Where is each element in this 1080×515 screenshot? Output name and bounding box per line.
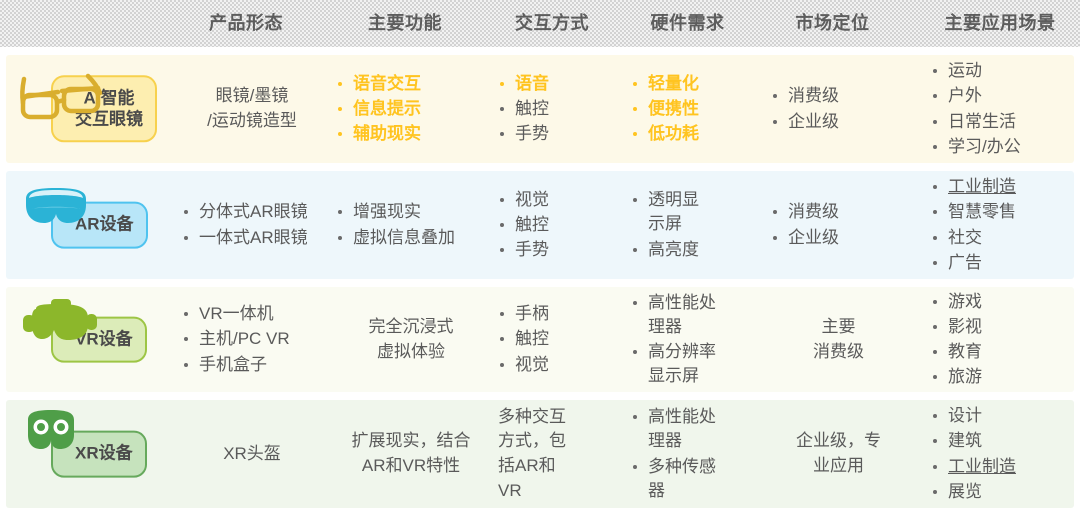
vr-interaction-list: 手柄 触控 视觉 (498, 301, 618, 377)
list-item: 高亮度 (631, 238, 756, 262)
column-header-interaction: 交互方式 (492, 0, 612, 47)
vr-function-text: 完全沉浸式 虚拟体验 (369, 315, 454, 364)
xr-goggles-icon (18, 408, 110, 469)
table-header-row: 产品形态 主要功能 交互方式 硬件需求 市场定位 主要应用场景 (0, 0, 1080, 47)
ar-form-list: 分体式AR眼镜 一体式AR眼镜 (182, 199, 322, 250)
column-header-market: 市场定位 (765, 0, 900, 47)
list-item: 多种传感 器 (631, 455, 756, 503)
column-header-hardware: 硬件需求 (625, 0, 750, 47)
list-item: 手势 (498, 238, 618, 262)
cell-vr-interaction: 手柄 触控 视觉 (498, 287, 618, 392)
list-item: 虚拟信息叠加 (336, 226, 486, 250)
list-item: 触控 (498, 213, 618, 237)
list-item: 智慧零售 (931, 200, 1080, 224)
device-label-cell-ai: AI智能 交互眼镜 (10, 55, 180, 163)
list-item: 语音交互 (336, 72, 486, 96)
list-item: 触控 (498, 97, 618, 121)
cell-xr-product-form: XR头盔 (182, 400, 322, 508)
list-item: 语音 (498, 72, 618, 96)
table-row-ai-glasses: AI智能 交互眼镜 眼镜/墨镜 /运动镜造型 语音交互 信息提示 辅助现实 语音… (6, 55, 1074, 163)
list-item: 户外 (931, 84, 1080, 108)
list-item: 企业级 (771, 226, 906, 250)
list-item: 分体式AR眼镜 (182, 200, 322, 224)
list-item: 触控 (498, 327, 618, 351)
ar-hardware-list: 透明显 示屏 高亮度 (631, 187, 756, 262)
ai-interaction-list: 语音 触控 手势 (498, 71, 618, 147)
ai-function-list: 语音交互 信息提示 辅助现实 (336, 71, 486, 147)
cell-vr-product-form: VR一体机 主机/PC VR 手机盒子 (182, 287, 322, 392)
column-header-product-form: 产品形态 (176, 0, 316, 47)
table-row-xr-device: XR设备 XR头盔 扩展现实，结合 AR和VR特性 多种交互 方式，包 括AR和… (6, 400, 1074, 508)
list-item: 运动 (931, 59, 1080, 83)
ai-hardware-list: 轻量化 便携性 低功耗 (631, 71, 756, 147)
vr-hardware-list: 高性能处 理器 高分辨率 显示屏 (631, 290, 756, 390)
list-item: 旅游 (931, 365, 1080, 389)
ar-interaction-list: 视觉 触控 手势 (498, 187, 618, 263)
list-item: 设计 (931, 404, 1080, 428)
device-label-cell-xr: XR设备 (10, 400, 180, 508)
cell-ar-hardware: 透明显 示屏 高亮度 (631, 171, 756, 279)
cell-ai-main-function: 语音交互 信息提示 辅助现实 (336, 55, 486, 163)
list-item: VR一体机 (182, 302, 322, 326)
ar-function-list: 增强现实 虚拟信息叠加 (336, 199, 486, 250)
ai-product-form-text: 眼镜/墨镜 /运动镜造型 (207, 84, 297, 133)
list-item: 视觉 (498, 188, 618, 212)
list-item: 游戏 (931, 290, 1080, 314)
list-item: 展览 (931, 480, 1080, 504)
vr-market-text: 主要 消费级 (813, 315, 864, 364)
cell-vr-main-function: 完全沉浸式 虚拟体验 (336, 287, 486, 392)
cell-ai-interaction: 语音 触控 手势 (498, 55, 618, 163)
list-item: 学习/办公 (931, 135, 1080, 159)
list-item: 工业制造 (931, 175, 1080, 199)
list-item: 一体式AR眼镜 (182, 226, 322, 250)
vr-scenario-list: 游戏 影视 教育 旅游 (931, 289, 1080, 391)
cell-ai-product-form: 眼镜/墨镜 /运动镜造型 (182, 55, 322, 163)
ar-visor-icon (18, 185, 110, 242)
list-item: 工业制造 (931, 455, 1080, 479)
cell-xr-interaction: 多种交互 方式，包 括AR和 VR (498, 400, 618, 508)
device-label-cell-vr: VR设备 (10, 287, 180, 392)
list-item: 广告 (931, 251, 1080, 275)
cell-vr-hardware: 高性能处 理器 高分辨率 显示屏 (631, 287, 756, 392)
list-item: 辅助现实 (336, 122, 486, 146)
column-header-main-function: 主要功能 (330, 0, 480, 47)
list-item: 便携性 (631, 97, 756, 121)
cell-ai-hardware: 轻量化 便携性 低功耗 (631, 55, 756, 163)
list-item: 社交 (931, 226, 1080, 250)
cell-ar-main-function: 增强现实 虚拟信息叠加 (336, 171, 486, 279)
ar-market-list: 消费级 企业级 (771, 199, 906, 250)
xr-product-form-text: XR头盔 (223, 442, 281, 467)
xr-scenario-list: 设计 建筑 工业制造 展览 (931, 403, 1080, 505)
cell-xr-hardware: 高性能处 理器 多种传感 器 (631, 400, 756, 508)
vr-form-list: VR一体机 主机/PC VR 手机盒子 (182, 301, 322, 377)
xr-hardware-list: 高性能处 理器 多种传感 器 (631, 404, 756, 504)
cell-vr-market: 主要 消费级 (771, 287, 906, 392)
xr-market-text: 企业级，专 业应用 (796, 429, 881, 478)
xr-function-text: 扩展现实，结合 AR和VR特性 (352, 429, 471, 478)
ai-market-list: 消费级 企业级 (771, 83, 906, 134)
list-item: 高分辨率 显示屏 (631, 340, 756, 388)
list-item: 影视 (931, 315, 1080, 339)
list-item: 企业级 (771, 110, 906, 134)
list-item: 手柄 (498, 302, 618, 326)
device-label-cell-ar: AR设备 (10, 171, 180, 279)
table-row-ar-device: AR设备 分体式AR眼镜 一体式AR眼镜 增强现实 虚拟信息叠加 视觉 触控 手… (6, 171, 1074, 279)
cell-ai-scenarios: 运动 户外 日常生活 学习/办公 (931, 55, 1080, 163)
list-item: 低功耗 (631, 122, 756, 146)
list-item: 日常生活 (931, 110, 1080, 134)
list-item: 消费级 (771, 84, 906, 108)
cell-ar-interaction: 视觉 触控 手势 (498, 171, 618, 279)
list-item: 信息提示 (336, 97, 486, 121)
list-item: 透明显 示屏 (631, 188, 756, 236)
xr-interaction-text: 多种交互 方式，包 括AR和 VR (498, 405, 618, 504)
eyeglasses-icon (18, 71, 110, 128)
list-item: 视觉 (498, 353, 618, 377)
list-item: 建筑 (931, 429, 1080, 453)
device-comparison-table: 产品形态 主要功能 交互方式 硬件需求 市场定位 主要应用场景 (0, 0, 1080, 515)
cell-vr-scenarios: 游戏 影视 教育 旅游 (931, 287, 1080, 392)
list-item: 增强现实 (336, 200, 486, 224)
cell-ar-market: 消费级 企业级 (771, 171, 906, 279)
cell-ai-market: 消费级 企业级 (771, 55, 906, 163)
list-item: 手机盒子 (182, 353, 322, 377)
cell-xr-market: 企业级，专 业应用 (771, 400, 906, 508)
list-item: 高性能处 理器 (631, 291, 756, 339)
list-item: 教育 (931, 340, 1080, 364)
ar-scenario-list: 工业制造 智慧零售 社交 广告 (931, 174, 1080, 276)
column-header-scenarios: 主要应用场景 (925, 0, 1075, 47)
list-item: 高性能处 理器 (631, 405, 756, 453)
cell-xr-main-function: 扩展现实，结合 AR和VR特性 (336, 400, 486, 508)
table-row-vr-device: VR设备 VR一体机 主机/PC VR 手机盒子 完全沉浸式 虚拟体验 手柄 触… (6, 287, 1074, 392)
cell-xr-scenarios: 设计 建筑 工业制造 展览 (931, 400, 1080, 508)
list-item: 消费级 (771, 200, 906, 224)
list-item: 主机/PC VR (182, 327, 322, 351)
cell-ar-scenarios: 工业制造 智慧零售 社交 广告 (931, 171, 1080, 279)
ai-scenario-list: 运动 户外 日常生活 学习/办公 (931, 58, 1080, 160)
list-item: 手势 (498, 122, 618, 146)
vr-headset-icon (18, 297, 110, 358)
cell-ar-product-form: 分体式AR眼镜 一体式AR眼镜 (182, 171, 322, 279)
list-item: 轻量化 (631, 72, 756, 96)
